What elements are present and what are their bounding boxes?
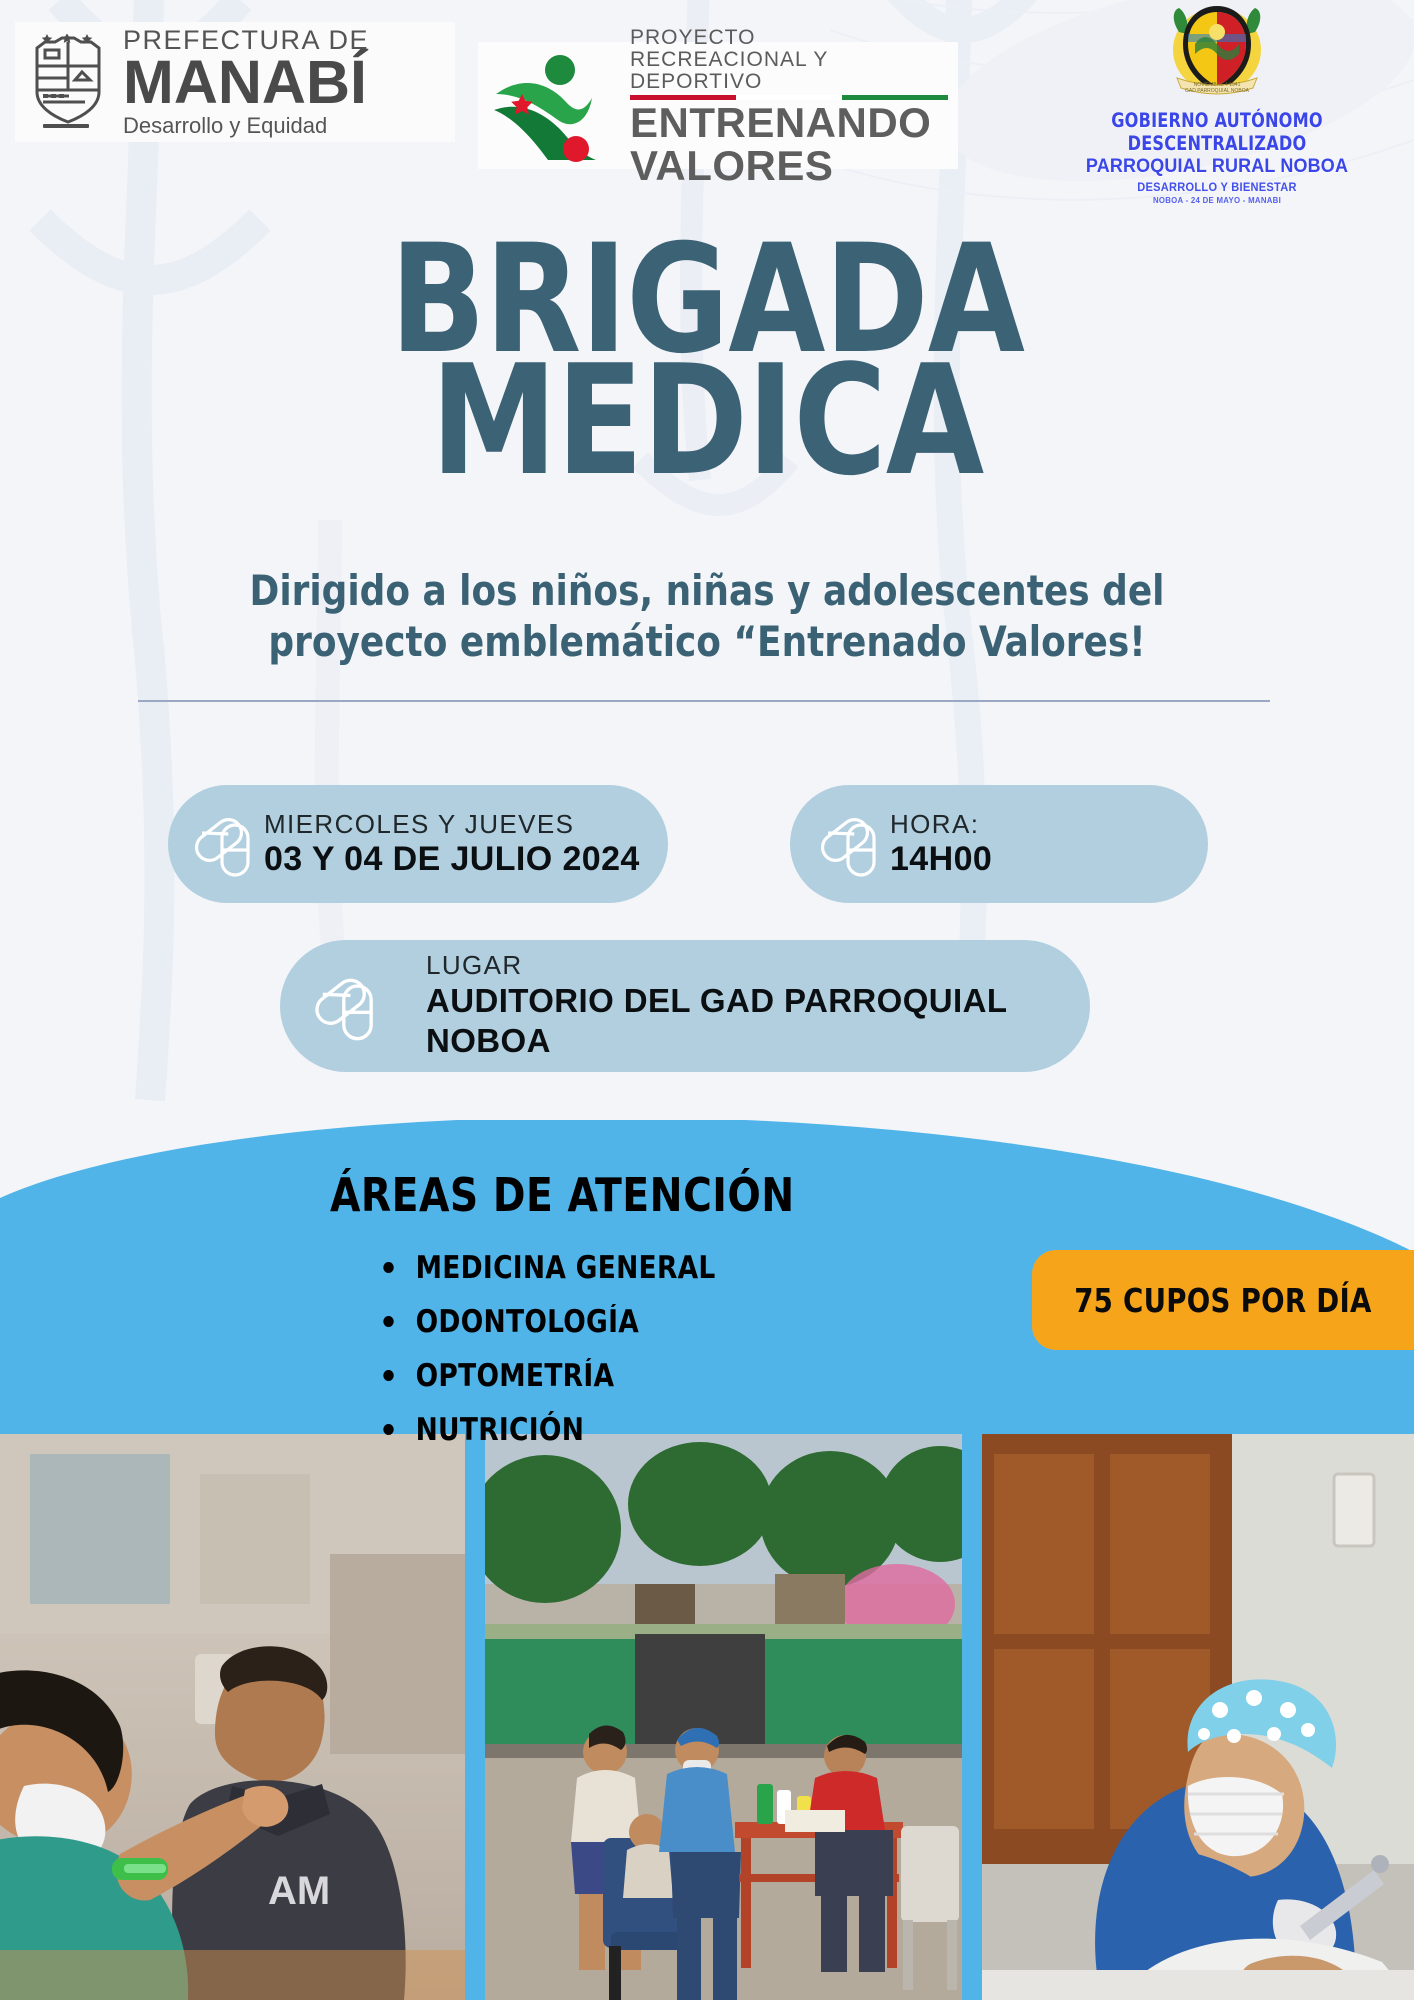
- photo-triage: AM: [0, 1434, 465, 2000]
- gad-line1: GOBIERNO AUTÓNOMO DESCENTRALIZADO: [1036, 109, 1398, 155]
- list-item: MEDICINA GENERAL: [370, 1250, 716, 1286]
- gad-line2: PARROQUIAL RURAL NOBOA: [1036, 155, 1398, 178]
- info-pill-hour: HORA: 14H00: [790, 785, 1208, 903]
- logo-entrenando-valores: PROYECTO RECREACIONAL Y DEPORTIVO ENTREN…: [478, 42, 958, 169]
- cupos-badge: 75 CUPOS POR DÍA: [1032, 1250, 1414, 1350]
- pills-capsule-icon: [814, 809, 890, 879]
- ev-line1: PROYECTO: [630, 27, 948, 49]
- pills-capsule-icon: [308, 969, 388, 1043]
- photo-strip: AM: [0, 1434, 1414, 2000]
- logo-prefectura-manabi: PREFECTURA DE MANABÍ Desarrollo y Equida…: [15, 22, 455, 142]
- pill-date-value: 03 Y 04 DE JULIO 2024: [264, 840, 640, 879]
- pill-place-label: LUGAR: [426, 950, 1066, 981]
- header-logos: PREFECTURA DE MANABÍ Desarrollo y Equida…: [0, 0, 1414, 215]
- gad-crest-icon: NOVIEMBRE 4 1941 GAD PARROQUIAL NOBOA: [1165, 2, 1269, 106]
- ev-line3: ENTRENANDO: [630, 102, 948, 145]
- photo-outdoor-consult: [485, 1434, 962, 2000]
- list-item: NUTRICIÓN: [370, 1412, 716, 1448]
- cupos-badge-label: 75 CUPOS POR DÍA: [1074, 1281, 1371, 1320]
- logo-gad-noboa: NOVIEMBRE 4 1941 GAD PARROQUIAL NOBOA GO…: [1020, 2, 1414, 212]
- manabi-line3: Desarrollo y Equidad: [123, 115, 369, 137]
- pills-capsule-icon: [188, 809, 264, 879]
- subtitle-line-2: proyecto emblemático “Entrenado Valores!: [35, 616, 1378, 667]
- info-pill-place: LUGAR AUDITORIO DEL GAD PARROQUIAL NOBOA: [280, 940, 1090, 1072]
- areas-heading: ÁREAS DE ATENCIÓN: [330, 1168, 795, 1222]
- areas-list: MEDICINA GENERAL ODONTOLOGÍA OPTOMETRÍA …: [370, 1250, 734, 1466]
- manabi-line2: MANABÍ: [123, 54, 369, 112]
- svg-text:GAD PARROQUIAL NOBOA: GAD PARROQUIAL NOBOA: [1185, 88, 1250, 94]
- page-subtitle: Dirigido a los niños, niñas y adolescent…: [35, 565, 1378, 667]
- page-title: BRIGADA MEDICA: [0, 240, 1414, 482]
- gad-line3: DESARROLLO Y BIENESTAR: [1036, 180, 1398, 194]
- running-figure-icon: [492, 50, 624, 162]
- manabi-shield-icon: [29, 34, 107, 130]
- list-item: ODONTOLOGÍA: [370, 1304, 716, 1340]
- title-line-2: MEDICA: [49, 360, 1364, 482]
- pill-hour-label: HORA:: [890, 809, 992, 840]
- svg-text:AM: AM: [268, 1869, 330, 1913]
- ev-line2: RECREACIONAL Y DEPORTIVO: [630, 49, 948, 93]
- section-divider: [138, 700, 1270, 702]
- pill-place-value: AUDITORIO DEL GAD PARROQUIAL NOBOA: [426, 981, 1066, 1062]
- info-pill-date: MIERCOLES Y JUEVES 03 Y 04 DE JULIO 2024: [168, 785, 668, 903]
- pill-date-label: MIERCOLES Y JUEVES: [264, 809, 640, 840]
- subtitle-line-1: Dirigido a los niños, niñas y adolescent…: [35, 565, 1378, 616]
- gad-line4: NOBOA - 24 DE MAYO - MANABI: [1036, 195, 1398, 205]
- poster-root: PREFECTURA DE MANABÍ Desarrollo y Equida…: [0, 0, 1414, 2000]
- ev-line4: VALORES: [630, 145, 948, 188]
- pill-hour-value: 14H00: [890, 840, 992, 879]
- list-item: OPTOMETRÍA: [370, 1358, 716, 1394]
- photo-dental: [982, 1434, 1414, 2000]
